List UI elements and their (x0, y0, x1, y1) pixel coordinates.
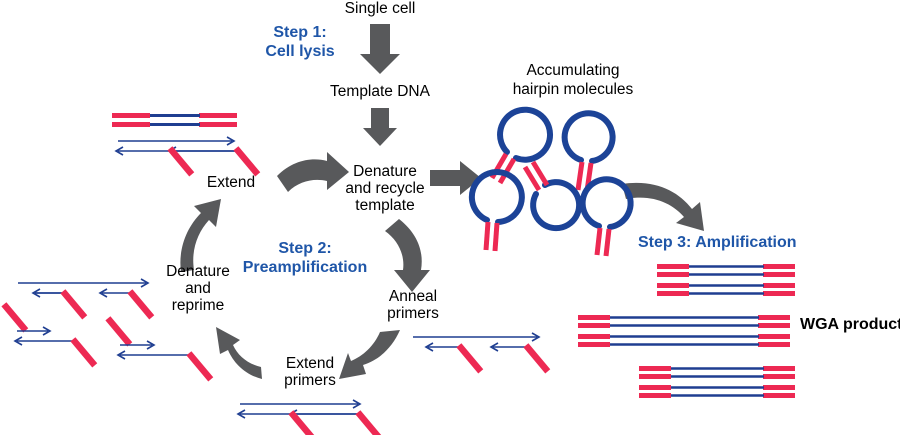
label-step2-line2: Preamplification (235, 259, 375, 277)
label-anneal-primers-line2: primers (368, 305, 458, 322)
diagram-graphics: .rd{fill:#ED2953;} .bl{stroke:#1F3E91;fi… (0, 0, 900, 435)
label-extend: Extend (186, 174, 276, 191)
curved-arrow-icon-to-extend (180, 199, 221, 272)
dna-bottom-extend-primers (238, 400, 382, 435)
diagram-canvas: .rd{fill:#ED2953;} .bl{stroke:#1F3E91;fi… (0, 0, 900, 435)
hairpin-molecule-3 (472, 172, 522, 251)
label-step3-amplification: Step 3: Amplification (638, 234, 858, 252)
label-template-dna: Template DNA (310, 83, 450, 100)
label-extend-primers-line2: primers (265, 372, 355, 389)
label-step1-line2: Cell lysis (250, 43, 350, 61)
curved-arrow-icon-to-amplification (622, 183, 704, 231)
label-denature-reprime-line2: and (143, 280, 253, 297)
hairpin-molecules-group (472, 110, 631, 256)
label-step2-line1: Step 2: (235, 240, 375, 258)
arrow-down-icon-template (363, 108, 397, 146)
label-denature-recycle-line2: and recycle (330, 180, 440, 197)
label-single-cell: Single cell (320, 0, 440, 17)
label-denature-recycle-line3: template (330, 197, 440, 214)
label-denature-recycle-line1: Denature (330, 163, 440, 180)
label-denature-reprime-line3: reprime (143, 297, 253, 314)
label-step1-line1: Step 1: (250, 24, 350, 42)
wga-product-3 (639, 366, 795, 398)
wga-product-2 (578, 315, 790, 347)
label-anneal-primers-line1: Anneal (368, 288, 458, 305)
curved-arrow-icon-to-anneal (385, 219, 430, 292)
dna-extend-top-left (112, 113, 260, 176)
label-extend-primers-line1: Extend (265, 355, 355, 372)
dna-anneal-primers (413, 333, 550, 373)
wga-product-1 (657, 264, 795, 296)
label-accumulating-line1: Accumulating (493, 62, 653, 79)
curved-arrow-icon-to-reprime (216, 327, 262, 379)
hairpin-molecule-5 (583, 179, 631, 256)
label-accumulating-line2: hairpin molecules (493, 81, 653, 98)
label-wga-product: WGA product (800, 316, 900, 334)
hairpin-molecule-4 (525, 162, 579, 228)
arrow-down-icon-lysis (360, 24, 400, 74)
